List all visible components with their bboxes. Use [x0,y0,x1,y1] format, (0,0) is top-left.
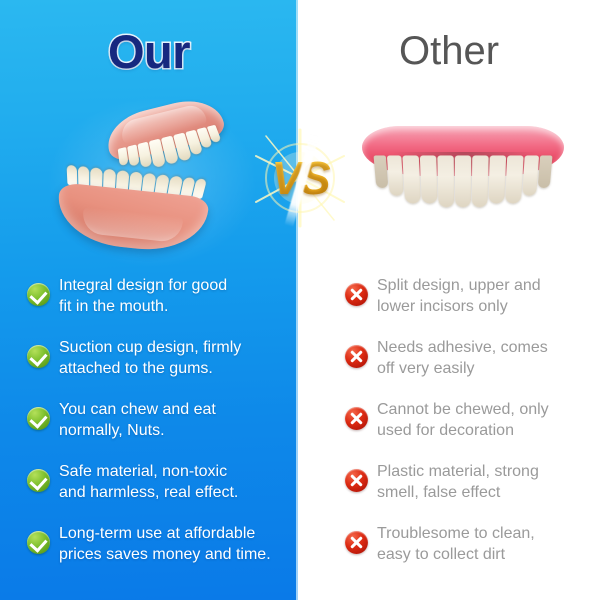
feature-line: Long-term use at affordable [59,523,271,544]
feature-line: prices saves money and time. [59,544,271,565]
feature-line: easy to collect dirt [377,544,535,565]
our-feature-text: Suction cup design, firmly attached to t… [59,337,241,379]
list-item: Troublesome to clean, easy to collect di… [345,523,585,585]
feature-line: Safe material, non-toxic [59,461,238,482]
list-item: You can chew and eat normally, Nuts. [27,399,277,461]
other-feature-text: Plastic material, strong smell, false ef… [377,461,539,503]
other-feature-text: Troublesome to clean, easy to collect di… [377,523,535,565]
check-icon [27,469,50,492]
other-feature-text: Needs adhesive, comes off very easily [377,337,548,379]
list-item: Safe material, non-toxic and harmless, r… [27,461,277,523]
vs-badge: VS [248,126,352,230]
feature-line: smell, false effect [377,482,539,503]
our-denture-image [52,104,252,254]
feature-line: off very easily [377,358,548,379]
our-feature-text: Long-term use at affordable prices saves… [59,523,271,565]
list-item: Integral design for good fit in the mout… [27,275,277,337]
feature-line: Troublesome to clean, [377,523,535,544]
cross-icon [345,531,368,554]
feature-line: Cannot be chewed, only [377,399,549,420]
cross-icon [345,407,368,430]
cross-icon [345,345,368,368]
check-icon [27,531,50,554]
feature-line: Integral design for good [59,275,227,296]
list-item: Long-term use at affordable prices saves… [27,523,277,585]
feature-line: normally, Nuts. [59,420,216,441]
cross-icon [345,469,368,492]
other-denture-image [360,122,566,218]
comparison-infographic: Our Other [0,0,600,600]
list-item: Suction cup design, firmly attached to t… [27,337,277,399]
other-title: Other [298,29,600,74]
other-feature-text: Split design, upper and lower incisors o… [377,275,541,317]
lower-denture-arch [54,156,212,259]
feature-line: Split design, upper and [377,275,541,296]
our-feature-text: Safe material, non-toxic and harmless, r… [59,461,238,503]
our-feature-text: You can chew and eat normally, Nuts. [59,399,216,441]
cross-icon [345,283,368,306]
list-item: Cannot be chewed, only used for decorati… [345,399,585,461]
other-feature-list: Split design, upper and lower incisors o… [345,275,585,585]
feature-line: fit in the mouth. [59,296,227,317]
feature-line: lower incisors only [377,296,541,317]
snap-on-arch [360,122,566,218]
feature-line: used for decoration [377,420,549,441]
feature-line: Needs adhesive, comes [377,337,548,358]
snap-on-teeth [365,155,560,210]
feature-line: Plastic material, strong [377,461,539,482]
other-feature-text: Cannot be chewed, only used for decorati… [377,399,549,441]
list-item: Plastic material, strong smell, false ef… [345,461,585,523]
feature-line: attached to the gums. [59,358,241,379]
check-icon [27,345,50,368]
list-item: Split design, upper and lower incisors o… [345,275,585,337]
our-feature-list: Integral design for good fit in the mout… [27,275,277,585]
check-icon [27,283,50,306]
feature-line: Suction cup design, firmly [59,337,241,358]
our-title: Our [0,24,298,79]
feature-line: You can chew and eat [59,399,216,420]
our-feature-text: Integral design for good fit in the mout… [59,275,227,317]
check-icon [27,407,50,430]
feature-line: and harmless, real effect. [59,482,238,503]
list-item: Needs adhesive, comes off very easily [345,337,585,399]
